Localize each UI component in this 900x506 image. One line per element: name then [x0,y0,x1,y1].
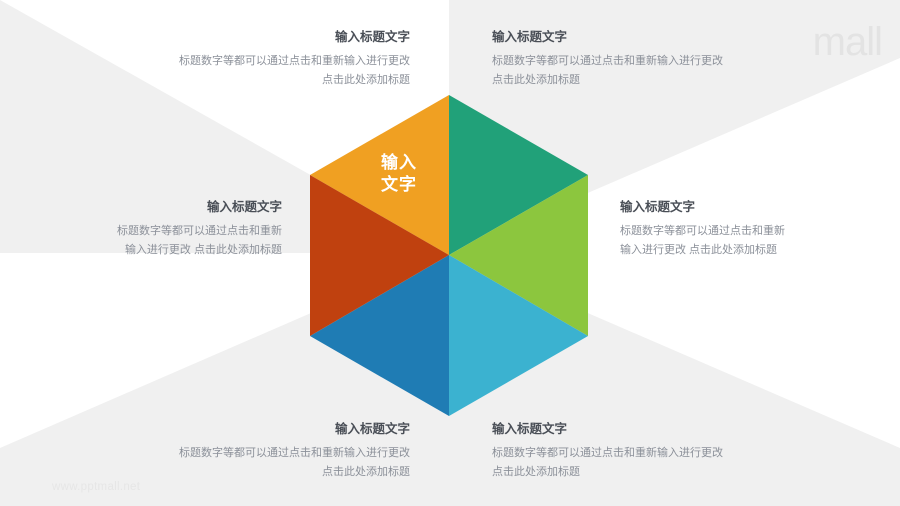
callout-body: 标题数字等都可以通过点击和重新输入进行更改 点击此处添加标题 [492,444,802,482]
callout-body: 标题数字等都可以通过点击和重新输入进行更改 点击此处添加标题 [100,444,410,482]
callout-body: 标题数字等都可以通过点击和重新 输入进行更改 点击此处添加标题 [60,222,282,260]
hexagon-diagram [307,92,591,419]
callout-title: 输入标题文字 [620,200,842,215]
callout-middle-right[interactable]: 输入标题文字 标题数字等都可以通过点击和重新 输入进行更改 点击此处添加标题 [620,200,842,260]
callout-body: 标题数字等都可以通过点击和重新输入进行更改 点击此处添加标题 [100,52,410,90]
callout-title: 输入标题文字 [100,422,410,437]
callout-bottom-right[interactable]: 输入标题文字 标题数字等都可以通过点击和重新输入进行更改 点击此处添加标题 [492,422,802,482]
callout-bottom-left[interactable]: 输入标题文字 标题数字等都可以通过点击和重新输入进行更改 点击此处添加标题 [100,422,410,482]
callout-title: 输入标题文字 [60,200,282,215]
callout-top-right[interactable]: 输入标题文字 标题数字等都可以通过点击和重新输入进行更改 点击此处添加标题 [492,30,802,90]
callout-title: 输入标题文字 [100,30,410,45]
watermark-url: www.pptmall.net [52,481,140,493]
callout-body: 标题数字等都可以通过点击和重新 输入进行更改 点击此处添加标题 [620,222,842,260]
slide-canvas: 输入 文字 输入标题文字 标题数字等都可以通过点击和重新输入进行更改 点击此处添… [0,0,900,506]
callout-title: 输入标题文字 [492,30,802,45]
watermark-logo: mall [813,22,882,62]
callout-top-left[interactable]: 输入标题文字 标题数字等都可以通过点击和重新输入进行更改 点击此处添加标题 [100,30,410,90]
callout-body: 标题数字等都可以通过点击和重新输入进行更改 点击此处添加标题 [492,52,802,90]
hexagon-svg [307,92,591,419]
callout-middle-left[interactable]: 输入标题文字 标题数字等都可以通过点击和重新 输入进行更改 点击此处添加标题 [60,200,282,260]
callout-title: 输入标题文字 [492,422,802,437]
